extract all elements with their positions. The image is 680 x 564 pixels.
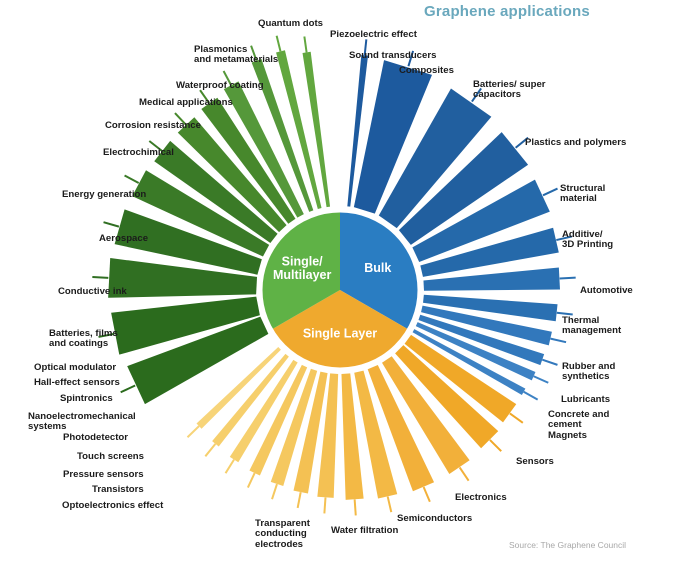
leader-line [121, 386, 136, 393]
spoke-label: Plastics and polymers [525, 138, 626, 148]
spoke-label: Transistors [92, 485, 144, 495]
leader-line [424, 487, 430, 502]
leader-line [543, 189, 558, 196]
spoke-label: Automotive [580, 286, 633, 296]
spoke-label: Thermal management [562, 316, 621, 337]
spoke-label: Rubber and synthetics [562, 362, 615, 383]
leader-line [92, 277, 108, 278]
spoke-label: Electrochimical [103, 148, 174, 158]
spoke-label: Photodetector [63, 433, 128, 443]
leader-line [304, 36, 306, 52]
leader-line [248, 473, 255, 488]
leader-line [560, 278, 576, 279]
leader-line [226, 460, 234, 474]
leader-line [104, 222, 119, 226]
leader-line [205, 444, 215, 456]
leader-line [510, 413, 523, 422]
hub-label: Single Layer [303, 327, 377, 341]
leader-line [298, 492, 301, 508]
leader-line [490, 440, 501, 451]
spoke-label: Optoelectronics effect [62, 501, 163, 511]
spoke-label: Hall-effect sensors [34, 378, 120, 388]
leader-line [550, 339, 566, 343]
leader-line [355, 499, 356, 515]
spoke-label: Sound transducers [349, 51, 436, 61]
spoke-label: Quantum dots [258, 19, 323, 29]
page-title: Graphene applications [424, 3, 590, 20]
hub-label: Bulk [364, 261, 391, 275]
spoke-label: Additive/ 3D Printing [562, 230, 613, 251]
spoke-label: Batteries, films and coatings [49, 329, 118, 350]
spoke-label: Pressure sensors [63, 470, 144, 480]
spoke-label: Nanoelectromechanical systems [28, 412, 136, 433]
leader-line [125, 175, 139, 183]
leader-line [324, 497, 325, 513]
leader-line [524, 392, 538, 400]
spoke-wedge[interactable] [303, 52, 331, 207]
spoke-label: Magnets [548, 431, 587, 441]
infographic-root: BulkSingle LayerSingle/Multilayer Graphe… [0, 0, 680, 564]
leader-line [187, 426, 199, 437]
spoke-label: Lubricants [561, 395, 610, 405]
leader-line [542, 360, 557, 365]
spoke-label: Piezoelectric effect [330, 30, 417, 40]
spoke-label: Composites [399, 66, 454, 76]
spoke-label: Aerospace [99, 234, 148, 244]
spoke-label: Corrosion resistance [105, 121, 201, 131]
source-attribution: Source: The Graphene Council [509, 540, 626, 550]
spoke-label: Structural material [560, 184, 605, 205]
spoke-label: Energy generation [62, 190, 146, 200]
spoke-label: Optical modulator [34, 363, 116, 373]
leader-line [460, 467, 469, 480]
spoke-label: Touch screens [77, 452, 144, 462]
spoke-label: Semiconductors [397, 514, 472, 524]
spoke-label: Transparent conducting electrodes [255, 519, 310, 550]
leader-line [534, 376, 549, 383]
spoke-label: Electronics [455, 493, 507, 503]
spoke-label: Waterproof coating [176, 81, 264, 91]
spoke-label: Conductive ink [58, 287, 127, 297]
spoke-label: Batteries/ super capacitors [473, 80, 546, 101]
spoke-label: Sensors [516, 457, 554, 467]
leader-line [272, 484, 277, 499]
spoke-label: Spintronics [60, 394, 113, 404]
spoke-label: Plasmonics and metamaterials [194, 45, 278, 66]
spoke-label: Medical applications [139, 98, 233, 108]
leader-line [388, 497, 392, 513]
spoke-label: Concrete and cement [548, 410, 609, 431]
spoke-label: Water filtration [331, 526, 398, 536]
